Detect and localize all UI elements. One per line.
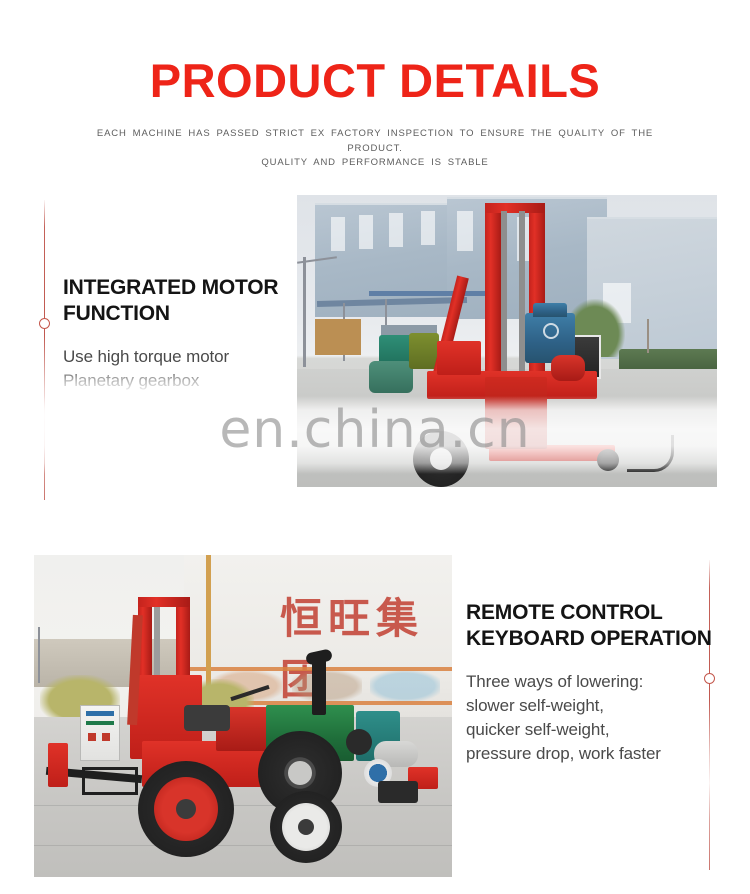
air-filter [346, 729, 372, 755]
bare-branch [647, 319, 649, 353]
window [359, 215, 373, 249]
pump-head [551, 355, 585, 381]
feature-body-2-line-2: slower self-weight, [466, 696, 604, 715]
utility-pole [303, 257, 306, 367]
rig-column-base [485, 377, 547, 449]
page-subtitle-line-1: EACH MACHINE HAS PASSED STRICT EX FACTOR… [97, 128, 653, 153]
mast-rail [501, 211, 507, 379]
feature-body-1-line-1: Use high torque motor [63, 347, 229, 366]
feature-heading-2: REMOTE CONTROL KEYBOARD OPERATION [466, 600, 714, 653]
pavement-joint [34, 805, 452, 806]
decorative-rail-left [44, 200, 45, 500]
motor-gauge [543, 323, 559, 339]
rig-seat-block [437, 341, 481, 375]
teal-tank [369, 361, 413, 393]
feature-heading-1: INTEGRATED MOTOR FUNCTION [63, 275, 303, 328]
rig-caster [597, 449, 619, 471]
product-detail-section-1: INTEGRATED MOTOR FUNCTION Use high torqu… [0, 185, 750, 515]
exhaust-pipe [312, 659, 326, 715]
panel-button [102, 733, 110, 741]
panel-label [86, 721, 114, 725]
feature-body-2-line-3: quicker self-weight, [466, 720, 610, 739]
feature-text-block-2: REMOTE CONTROL KEYBOARD OPERATION Three … [466, 600, 714, 766]
wall-mural-3 [370, 671, 440, 701]
window [389, 213, 403, 247]
feature-body-1: Use high torque motor Planetary gearbox [63, 328, 303, 393]
crate [315, 319, 361, 355]
panel-button [88, 733, 96, 741]
product-photo-2: 恒旺集团 [34, 555, 452, 877]
rig-mast-left [485, 203, 501, 383]
front-wheel-hub [298, 819, 314, 835]
wheel-hub [430, 448, 452, 470]
tractor-seat [184, 705, 230, 731]
feature-body-1-line-2: Planetary gearbox [63, 371, 199, 390]
page-header: PRODUCT DETAILS EACH MACHINE HAS PASSED … [0, 0, 750, 170]
page-subtitle-line-2: QUALITY AND PERFORMANCE IS STABLE [165, 156, 585, 170]
page-subtitle: EACH MACHINE HAS PASSED STRICT EX FACTOR… [95, 105, 655, 170]
feature-body-2-line-1: Three ways of lowering: [466, 672, 643, 691]
hydraulic-hose [627, 435, 674, 472]
rear-wheel-hub [176, 799, 196, 819]
product-detail-section-2: REMOTE CONTROL KEYBOARD OPERATION Three … [0, 545, 750, 894]
product-photo-1 [297, 195, 717, 487]
page-title: PRODUCT DETAILS [0, 0, 750, 105]
wall-mural-2 [292, 671, 362, 701]
feature-text-block-1: INTEGRATED MOTOR FUNCTION Use high torqu… [63, 275, 303, 393]
mid-wheel-hub [288, 761, 312, 785]
window [457, 211, 473, 251]
window [421, 211, 435, 245]
panel-label [86, 711, 114, 716]
rig-mast-top [485, 203, 545, 213]
window [331, 217, 345, 251]
rig-mast-top-2 [138, 597, 190, 607]
rear-hitch [378, 781, 418, 803]
pavement-joint [34, 845, 452, 846]
utility-pole [38, 627, 40, 683]
awning-upper [369, 291, 489, 296]
outrigger-left [48, 743, 68, 787]
rail-marker-dot-left [39, 318, 50, 329]
feature-body-2-line-4: pressure drop, work faster [466, 744, 661, 763]
feature-body-2: Three ways of lowering: slower self-weig… [466, 653, 714, 767]
frame-basket [82, 767, 138, 795]
motor-cap [533, 303, 567, 317]
